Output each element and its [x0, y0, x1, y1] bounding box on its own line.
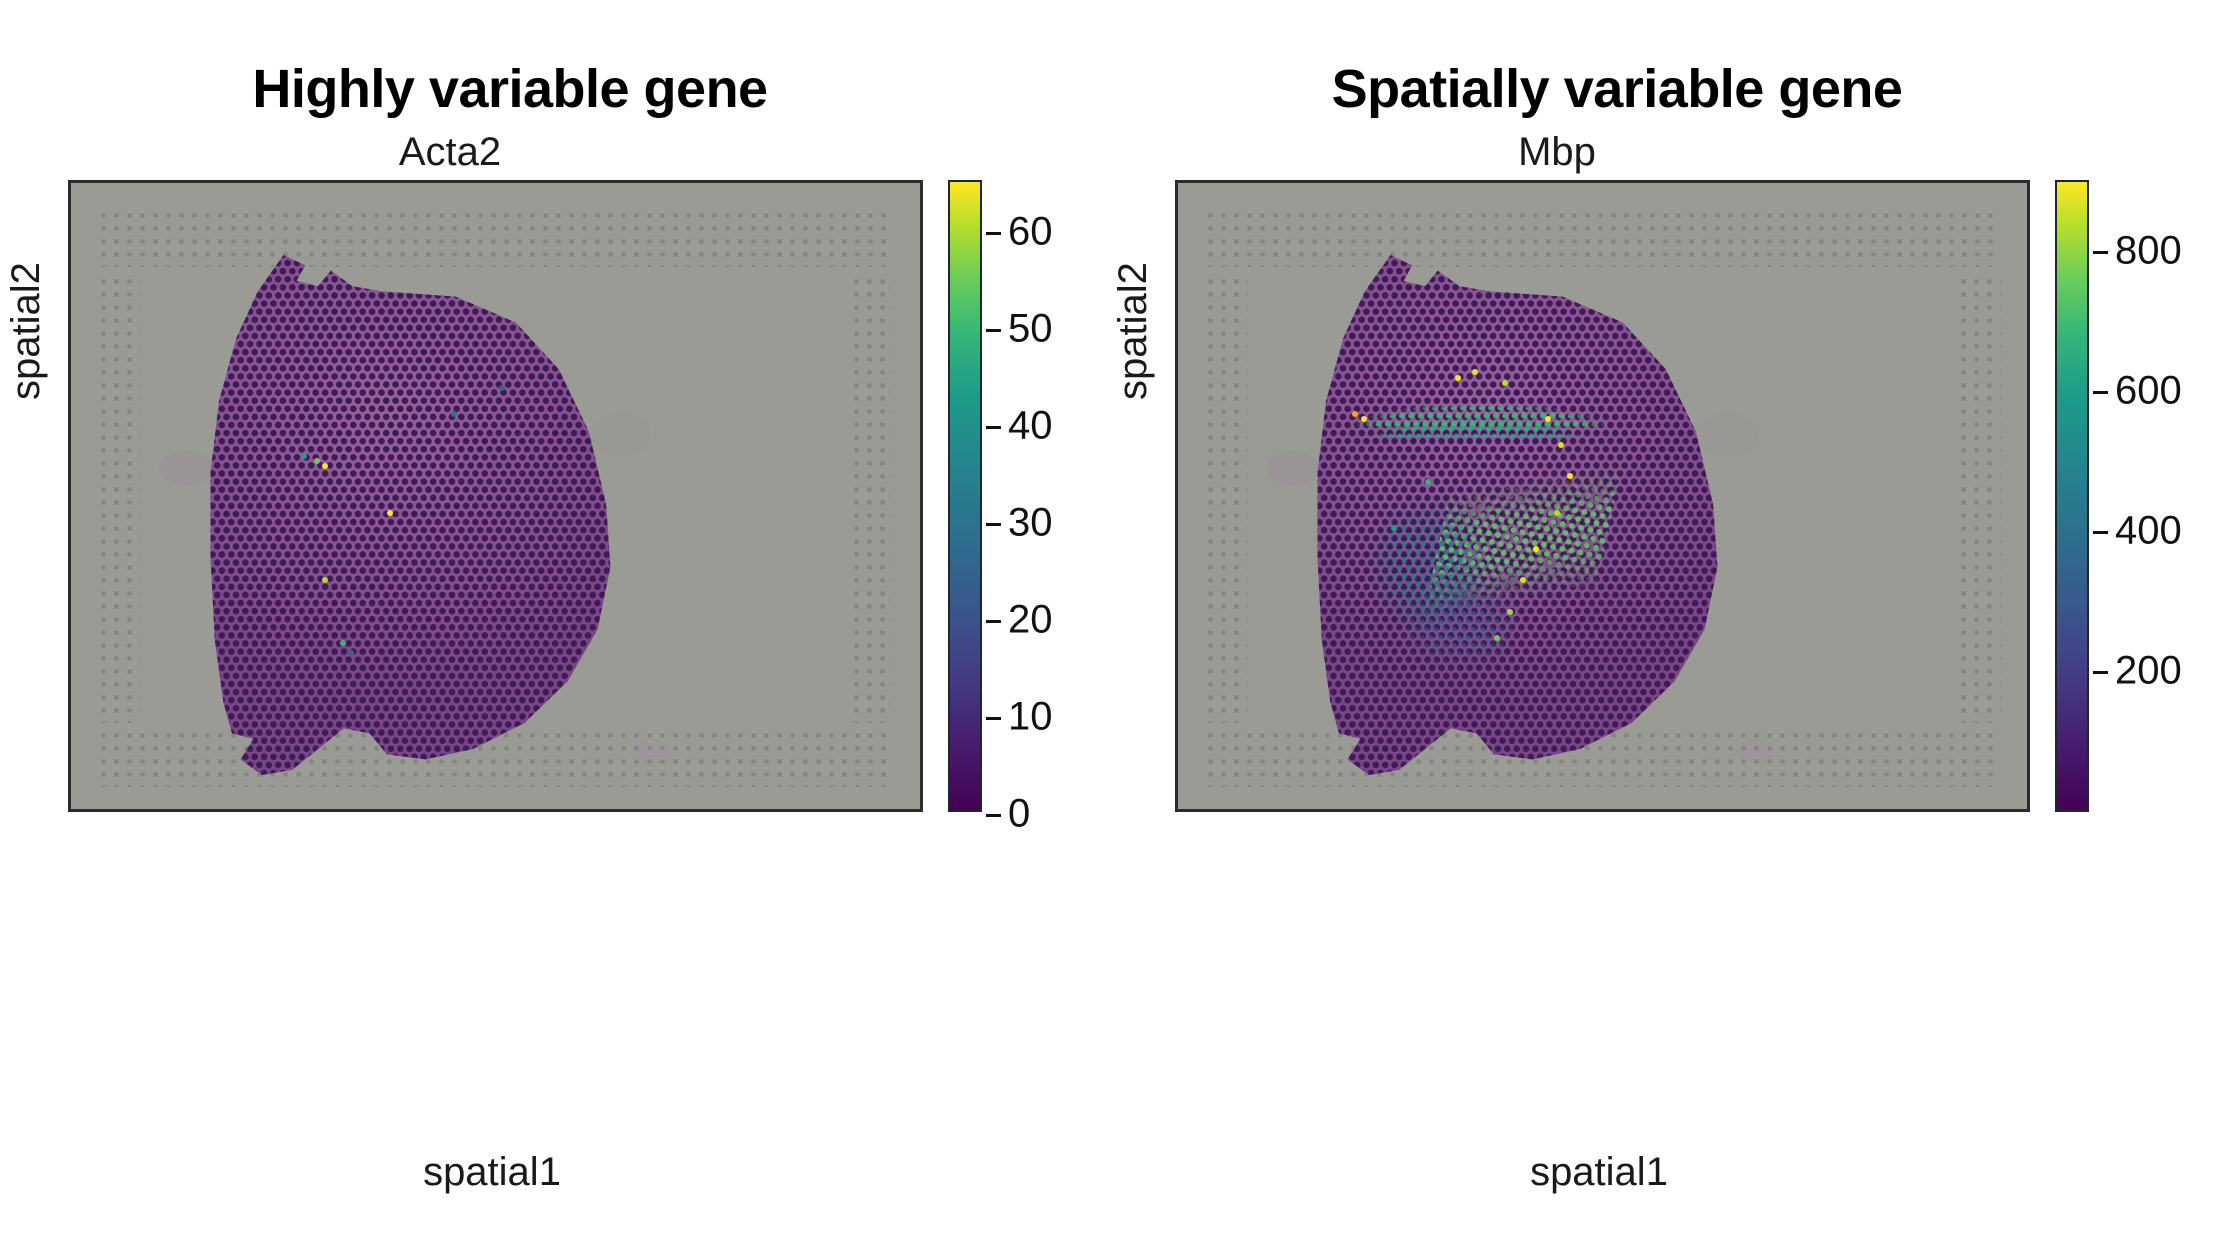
colorbar-tick-label: 800: [2115, 229, 2182, 274]
high-expression-spot: [1352, 411, 1358, 417]
colorbar-tick: [986, 814, 1001, 817]
slide-smudge: [1266, 451, 1320, 485]
high-expression-spot: [314, 458, 320, 464]
colorbar-tick-label: 200: [2115, 649, 2182, 694]
high-expression-spot: [322, 463, 328, 469]
y-axis-label: spatial2: [4, 262, 49, 400]
colorbar: 200 400 600 800: [2055, 180, 2089, 812]
x-axis-label: spatial1: [62, 1150, 922, 1195]
panel-subtitle-gene-name: Mbp: [1107, 130, 2007, 175]
colorbar-tick: [986, 523, 1001, 526]
colorbar-tick: [986, 232, 1001, 235]
fiducial-frame-bottom-icon: [1204, 729, 2001, 787]
high-expression-spot: [340, 640, 346, 646]
colorbar-tick: [986, 426, 1001, 429]
slide-image: [1178, 183, 2027, 809]
colorbar-tick: [986, 329, 1001, 332]
colorbar-tick-label: 0: [1008, 792, 1030, 837]
slide-smudge: [159, 451, 213, 485]
colorbar-tick-label: 40: [1008, 404, 1053, 449]
panel-title: Highly variable gene: [0, 58, 1020, 120]
high-expression-spot: [348, 650, 354, 656]
colorbar-tick: [2093, 391, 2108, 394]
colorbar-tick: [2093, 671, 2108, 674]
high-expression-spot: [451, 411, 457, 417]
panel-spatially-variable-gene: Spatially variable gene Mbp spatial2 spa…: [1107, 0, 2214, 1256]
colorbar-tick: [986, 717, 1001, 720]
slide-image: [71, 183, 920, 809]
colorbar: 0 10 20 30 40 50 60: [948, 180, 982, 812]
figure-root: Highly variable gene Acta2 spatial2 spat…: [0, 0, 2214, 1256]
fiducial-frame-left-icon: [1204, 275, 1248, 723]
panel-subtitle-gene-name: Acta2: [0, 130, 900, 175]
fiducial-frame-left-icon: [97, 275, 141, 723]
tissue-section: [1296, 255, 1726, 775]
high-expression-spot: [499, 385, 505, 391]
spatial-plot-area: [1175, 180, 2030, 812]
high-expression-spot: [322, 577, 328, 583]
fiducial-frame-top-icon: [1204, 209, 2001, 267]
panel-highly-variable-gene: Highly variable gene Acta2 spatial2 spat…: [0, 0, 1107, 1256]
expression-overlay-acta2: [189, 255, 619, 775]
high-expression-spot: [1361, 416, 1367, 422]
fiducial-frame-bottom-icon: [97, 729, 894, 787]
colorbar-tick-label: 50: [1008, 307, 1053, 352]
spatial-plot-area: [68, 180, 923, 812]
high-expression-spot: [301, 453, 307, 459]
panel-title: Spatially variable gene: [1107, 58, 2127, 120]
colorbar-tick-label: 60: [1008, 210, 1053, 255]
high-expression-spot: [1507, 609, 1513, 615]
y-axis-label: spatial2: [1111, 262, 1156, 400]
high-expression-spot: [1554, 510, 1560, 516]
slide-smudge: [1698, 413, 1758, 457]
expression-overlay-mbp: [1296, 255, 1726, 775]
fiducial-frame-right-icon: [850, 275, 894, 723]
high-expression-spot: [1533, 546, 1539, 552]
colorbar-tick-label: 400: [2115, 509, 2182, 554]
colorbar-tick-label: 10: [1008, 695, 1053, 740]
fiducial-frame-top-icon: [97, 209, 894, 267]
colorbar-tick: [2093, 251, 2108, 254]
fiducial-frame-right-icon: [1957, 275, 2001, 723]
colorbar-tick-label: 600: [2115, 369, 2182, 414]
x-axis-label: spatial1: [1169, 1150, 2029, 1195]
colorbar-tick: [2093, 531, 2108, 534]
high-expression-spot: [1425, 479, 1431, 485]
colorbar-tick: [986, 620, 1001, 623]
slide-smudge: [591, 413, 651, 457]
white-matter-tract: [1365, 541, 1571, 718]
high-expression-spot: [1494, 635, 1500, 641]
high-expression-spot: [1455, 375, 1461, 381]
tissue-section: [189, 255, 619, 775]
colorbar-tick-label: 20: [1008, 598, 1053, 643]
high-expression-spot: [387, 510, 393, 516]
colorbar-tick-label: 30: [1008, 501, 1053, 546]
